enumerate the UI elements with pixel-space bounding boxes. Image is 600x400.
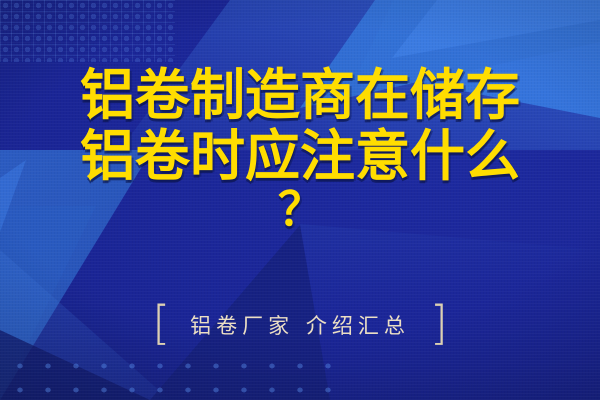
poster-canvas: 铝卷制造商在储存 铝卷时应注意什么 ？ [ 铝卷厂家 介绍汇总 ] xyxy=(0,0,600,400)
subtitle-row: [ 铝卷厂家 介绍汇总 ] xyxy=(0,302,600,348)
subtitle-text: 铝卷厂家 介绍汇总 xyxy=(190,310,410,340)
poster-content: 铝卷制造商在储存 铝卷时应注意什么 ？ [ 铝卷厂家 介绍汇总 ] xyxy=(0,0,600,400)
bracket-right-icon: ] xyxy=(430,300,448,346)
headline-line-2: 铝卷时应注意什么 xyxy=(0,129,600,184)
headline-line-3-question-mark: ？ xyxy=(0,186,600,232)
bracket-left-icon: [ xyxy=(152,300,170,346)
headline: 铝卷制造商在储存 铝卷时应注意什么 ？ xyxy=(0,68,600,232)
headline-line-1: 铝卷制造商在储存 xyxy=(0,68,600,123)
